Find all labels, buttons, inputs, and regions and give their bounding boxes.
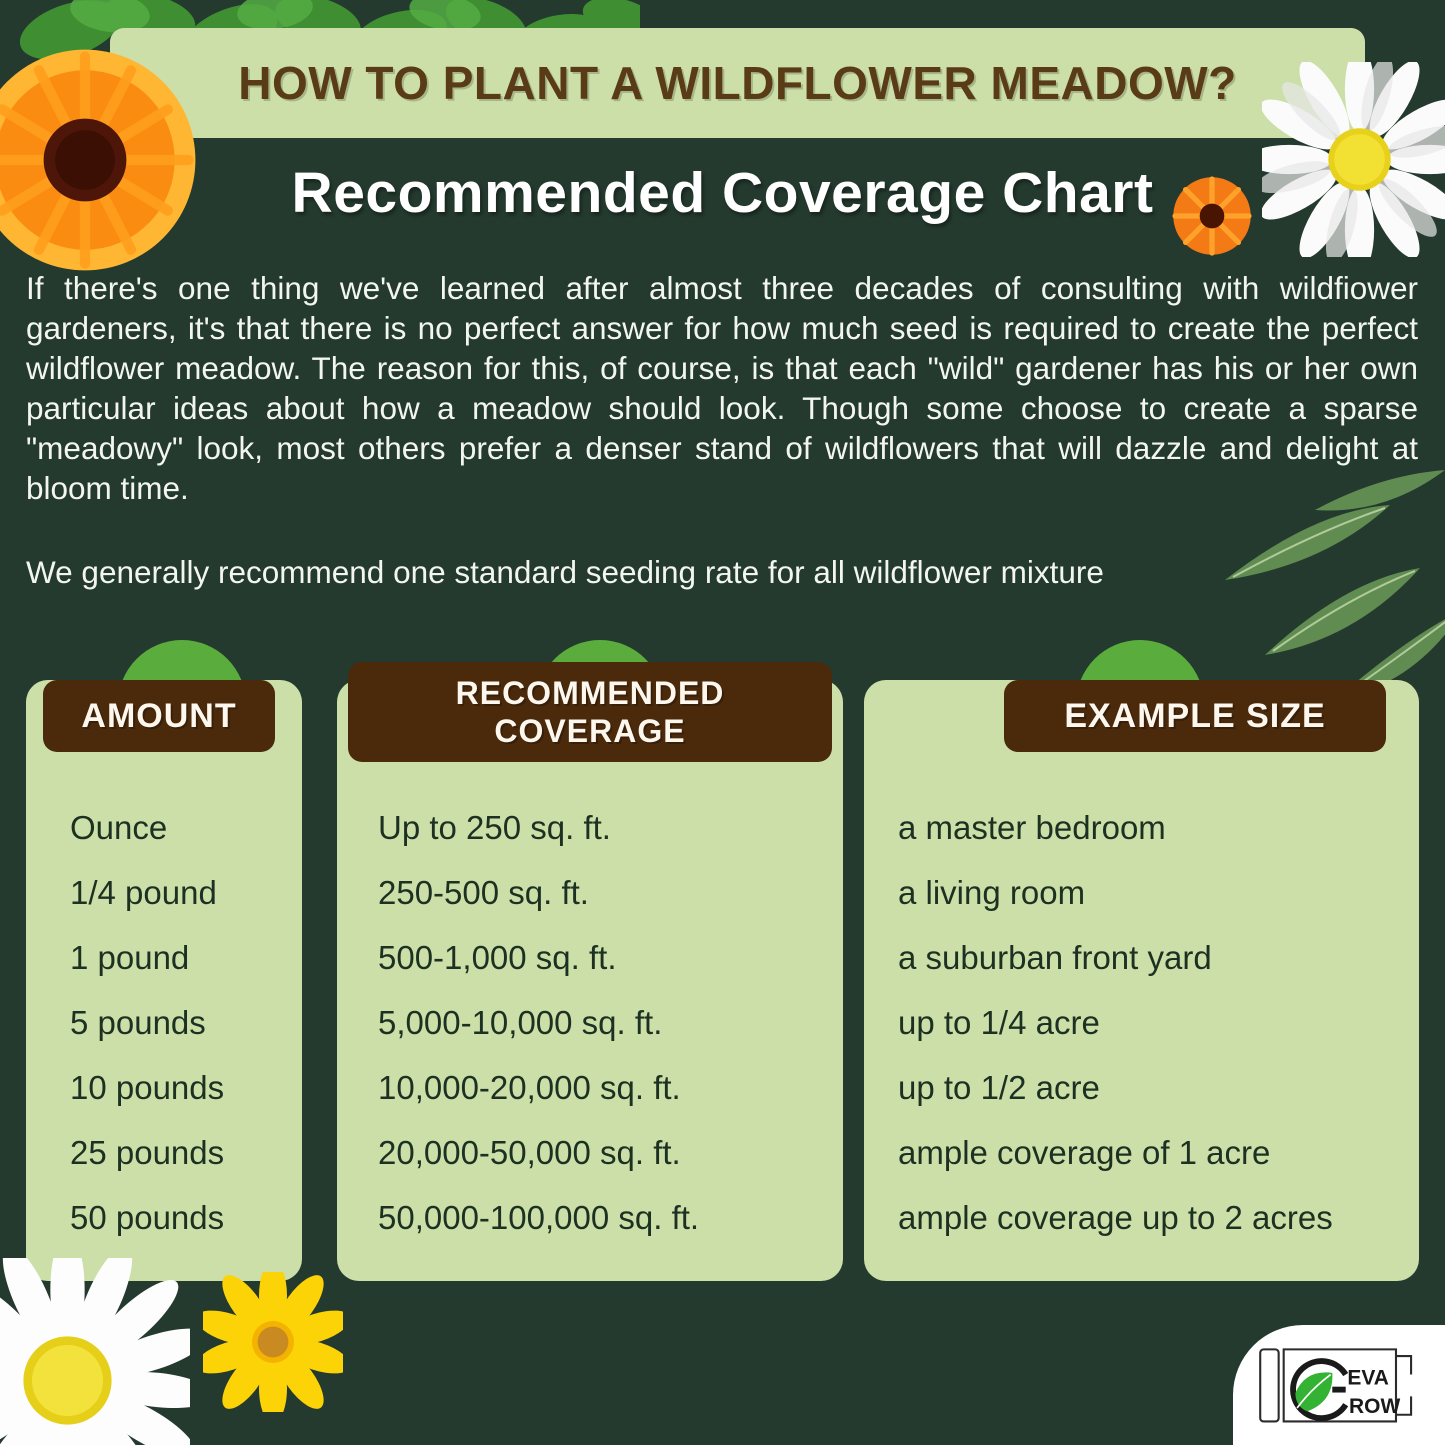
list-item: 20,000-50,000 sq. ft. (378, 1120, 699, 1185)
list-item: Up to 250 sq. ft. (378, 795, 699, 860)
list-item: a suburban front yard (898, 925, 1333, 990)
list-item: 50 pounds (70, 1185, 224, 1250)
list-item: 500-1,000 sq. ft. (378, 925, 699, 990)
amount-value-list: Ounce 1/4 pound 1 pound 5 pounds 10 poun… (70, 795, 224, 1250)
page-subtitle: Recommended Coverage Chart (292, 160, 1154, 226)
infographic-poster: HOW TO PLANT A WILDFLOWER MEADOW? Recomm… (0, 0, 1445, 1445)
list-item: 5,000-10,000 sq. ft. (378, 990, 699, 1055)
subtitle-row: Recommended Coverage Chart (0, 160, 1445, 226)
column-header-example-label: EXAMPLE SIZE (1064, 697, 1325, 736)
example-value-list: a master bedroom a living room a suburba… (898, 795, 1333, 1250)
column-header-coverage-label-line2: COVERAGE (456, 712, 725, 750)
list-item: up to 1/4 acre (898, 990, 1333, 1055)
list-item: 50,000-100,000 sq. ft. (378, 1185, 699, 1250)
yellow-coreopsis-flower-icon (203, 1272, 343, 1412)
list-item: a master bedroom (898, 795, 1333, 860)
column-header-example: EXAMPLE SIZE (1004, 680, 1386, 752)
list-item: a living room (898, 860, 1333, 925)
intro-paragraph-1: If there's one thing we've learned after… (26, 268, 1418, 508)
coverage-value-list: Up to 250 sq. ft. 250-500 sq. ft. 500-1,… (378, 795, 699, 1250)
column-header-coverage-label-line1: RECOMMENDED (456, 674, 725, 712)
list-item: up to 1/2 acre (898, 1055, 1333, 1120)
column-header-amount: AMOUNT (43, 680, 275, 752)
list-item: 250-500 sq. ft. (378, 860, 699, 925)
list-item: 25 pounds (70, 1120, 224, 1185)
list-item: 1/4 pound (70, 860, 224, 925)
list-item: 1 pound (70, 925, 224, 990)
intro-paragraph-2: We generally recommend one standard seed… (26, 552, 1418, 592)
column-header-coverage: RECOMMENDED COVERAGE (348, 662, 832, 762)
list-item: Ounce (70, 795, 224, 860)
list-item: ample coverage of 1 acre (898, 1120, 1333, 1185)
intro-text: If there's one thing we've learned after… (26, 268, 1418, 592)
page-title: HOW TO PLANT A WILDFLOWER MEADOW? (238, 56, 1237, 110)
brand-logo: EVA ROW (1233, 1325, 1445, 1445)
coverage-chart-table: AMOUNT RECOMMENDED COVERAGE EXAMPLE SIZE… (26, 640, 1419, 1280)
title-banner: HOW TO PLANT A WILDFLOWER MEADOW? (110, 28, 1365, 138)
eva-grow-logo-icon: EVA ROW (1255, 1341, 1423, 1429)
logo-text-eva: EVA (1347, 1367, 1389, 1390)
list-item: 10 pounds (70, 1055, 224, 1120)
logo-text-row: ROW (1349, 1395, 1400, 1418)
column-header-amount-label: AMOUNT (81, 697, 236, 736)
list-item: ample coverage up to 2 acres (898, 1185, 1333, 1250)
list-item: 5 pounds (70, 990, 224, 1055)
list-item: 10,000-20,000 sq. ft. (378, 1055, 699, 1120)
white-daisy-flower-bottom-icon (0, 1258, 190, 1445)
